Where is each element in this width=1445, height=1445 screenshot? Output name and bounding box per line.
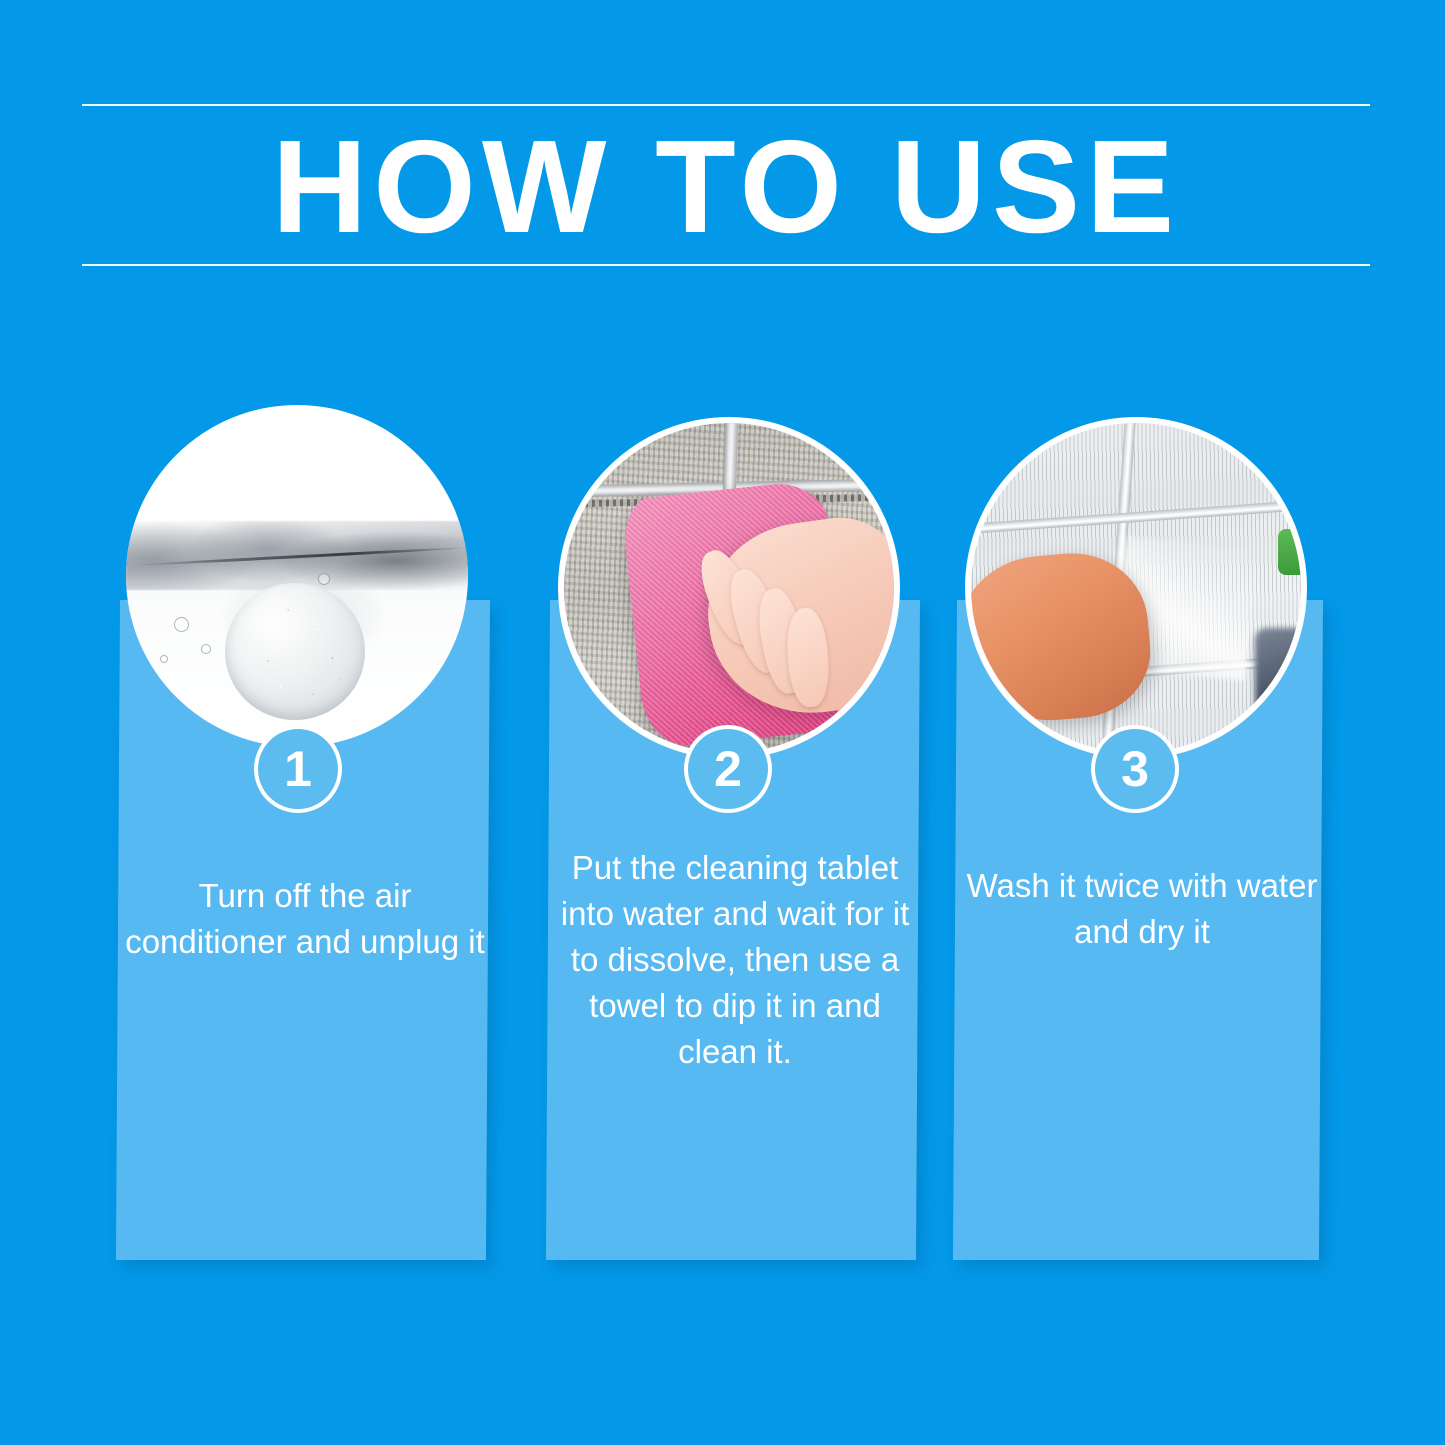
steps-container: 1 Turn off the air conditioner and unplu…	[0, 0, 1445, 1445]
background-blur	[1255, 628, 1301, 740]
cleaning-tablet	[225, 583, 365, 720]
bubble-icon	[201, 644, 211, 654]
step-card-1: 1 Turn off the air conditioner and unplu…	[98, 405, 498, 1265]
green-hose	[1278, 529, 1301, 575]
step-number-badge-2: 2	[684, 725, 772, 813]
water-tablet-photo	[126, 405, 468, 747]
step-number-badge-1: 1	[254, 725, 342, 813]
step-caption-1: Turn off the air conditioner and unplug …	[120, 873, 490, 965]
rinsing-filter-photo	[971, 423, 1301, 753]
cloth-wiping-filter-photo	[564, 423, 894, 753]
bubble-icon	[318, 573, 330, 585]
step-caption-3: Wash it twice with water and dry it	[957, 863, 1327, 955]
bubble-icon	[174, 617, 189, 632]
step-caption-2: Put the cleaning tablet into water and w…	[550, 845, 920, 1075]
step-card-3: 3 Wash it twice with water and dry it	[935, 405, 1335, 1265]
step-card-2: 2 Put the cleaning tablet into water and…	[528, 405, 928, 1265]
filter-frame-horizontal	[971, 500, 1301, 535]
step-image-2	[558, 417, 900, 759]
step-image-3	[965, 417, 1307, 759]
step-image-1	[126, 405, 468, 747]
bubble-icon	[160, 655, 168, 663]
step-number-badge-3: 3	[1091, 725, 1179, 813]
